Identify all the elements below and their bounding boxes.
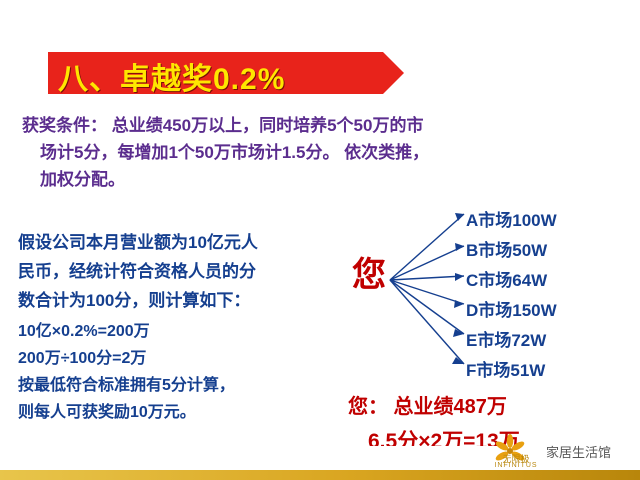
summary-total-performance: 您： 总业绩487万 bbox=[348, 390, 507, 419]
body-line-1: 假设公司本月营业额为10亿元人 bbox=[18, 228, 338, 257]
body-line-2: 民币，经统计符合资格人员的分 bbox=[18, 257, 338, 286]
frame-top bbox=[0, 0, 640, 30]
condition-line-1: 获奖条件： 总业绩450万以上，同时培养5个50万的市 bbox=[22, 112, 618, 139]
list-item: A市场100W bbox=[466, 206, 640, 236]
brand-logo: 无限极 INFINITUS 家居生活馆 bbox=[482, 428, 632, 476]
body-line-3: 数合计为100分，则计算如下： bbox=[18, 286, 338, 315]
slide-canvas: 八、卓越奖0.2% 获奖条件： 总业绩450万以上，同时培养5个50万的市 场计… bbox=[0, 0, 640, 480]
calculation-block: 10亿×0.2%=200万 200万÷100分=2万 按最低符合标准拥有5分计算… bbox=[18, 318, 348, 426]
list-item: E市场72W bbox=[466, 326, 640, 356]
list-item: F市场51W bbox=[466, 356, 640, 386]
list-item: B市场50W bbox=[466, 236, 640, 266]
brand-name-en: INFINITUS bbox=[484, 462, 548, 469]
calc-line-1: 10亿×0.2%=200万 bbox=[18, 318, 348, 345]
calc-line-2: 200万÷100分=2万 bbox=[18, 345, 348, 372]
example-body: 假设公司本月营业额为10亿元人 民币，经统计符合资格人员的分 数合计为100分，… bbox=[18, 228, 338, 315]
list-item: D市场150W bbox=[466, 296, 640, 326]
arrow-fan-diagram bbox=[380, 200, 480, 380]
page-title: 八、卓越奖0.2% bbox=[58, 54, 398, 98]
condition-line-2: 场计5分，每增加1个50万市场计1.5分。 依次类推， bbox=[22, 139, 618, 166]
market-list: A市场100W B市场50W C市场64W D市场150W E市场72W F市场… bbox=[466, 206, 640, 386]
calc-line-3: 按最低符合标准拥有5分计算， bbox=[18, 372, 348, 399]
calc-line-4: 则每人可获奖励10万元。 bbox=[18, 399, 348, 426]
award-conditions: 获奖条件： 总业绩450万以上，同时培养5个50万的市 场计5分，每增加1个50… bbox=[22, 112, 618, 193]
condition-line-3: 加权分配。 bbox=[22, 166, 618, 193]
list-item: C市场64W bbox=[466, 266, 640, 296]
watermark-text: 家居生活馆 bbox=[546, 442, 611, 461]
